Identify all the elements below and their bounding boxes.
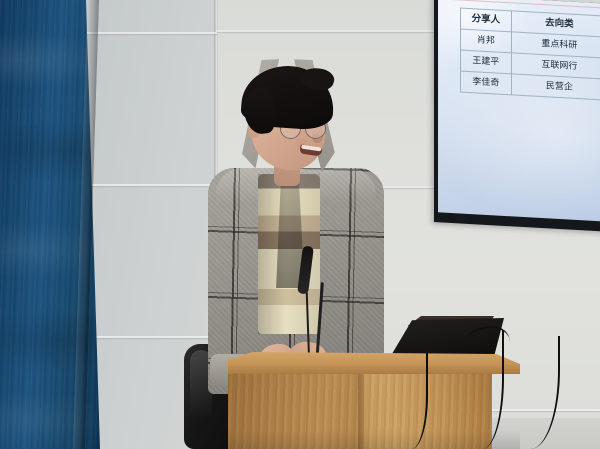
wall-display[interactable]: 分享人 去向类 肖邦 重点科研 王建平 互联网行 李佳奇 民营企 [434, 0, 600, 232]
hair-side [242, 87, 277, 136]
table-cell-name: 李佳奇 [461, 71, 512, 95]
table-cell-name: 肖邦 [461, 29, 512, 53]
table-header-cell: 分享人 [461, 8, 512, 32]
photo-scene: 分享人 去向类 肖邦 重点科研 王建平 互联网行 李佳奇 民营企 [0, 0, 600, 449]
presenter [196, 62, 396, 392]
display-screen: 分享人 去向类 肖邦 重点科研 王建平 互联网行 李佳奇 民营企 [438, 0, 600, 222]
table-cell-name: 王建平 [461, 50, 512, 74]
slide-table: 分享人 去向类 肖邦 重点科研 王建平 互联网行 李佳奇 民营企 [460, 7, 600, 100]
